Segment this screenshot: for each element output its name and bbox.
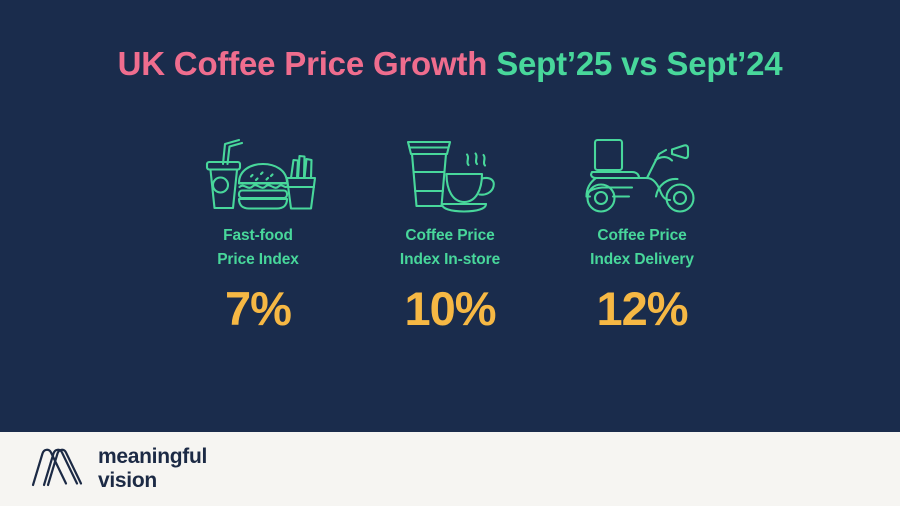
stat-label-fast-food: Fast-food Price Index <box>217 224 299 271</box>
title-text: UK Coffee Price Growth Sept’25 vs Sept’2… <box>0 44 900 84</box>
meaningful-vision-logo-mark <box>30 446 84 493</box>
stat-card-coffee-in-store: Coffee Price Index In-store 10% <box>354 132 546 332</box>
delivery-scooter-icon <box>580 132 704 214</box>
brand-logo-line2: vision <box>98 469 207 493</box>
stat-label-line1: Fast-food <box>223 227 293 244</box>
stat-label-line2: Index Delivery <box>590 251 694 268</box>
stat-label-line2: Index In-store <box>400 251 500 268</box>
stat-label-line2: Price Index <box>217 251 299 268</box>
coffee-cups-icon <box>396 132 504 214</box>
footer-bar: meaningful vision <box>0 432 900 506</box>
brand-logo-text: meaningful vision <box>98 445 207 492</box>
fast-food-combo-icon <box>199 132 317 214</box>
stat-label-coffee-in-store: Coffee Price Index In-store <box>400 224 500 271</box>
page-title: UK Coffee Price Growth Sept’25 vs Sept’2… <box>0 44 900 84</box>
brand-logo-line1: meaningful <box>98 445 207 469</box>
title-part-primary: UK Coffee Price Growth <box>118 45 497 82</box>
stats-row: Fast-food Price Index 7% <box>0 132 900 332</box>
stat-value-fast-food: 7% <box>225 285 291 332</box>
title-part-period: Sept’25 vs Sept’24 <box>496 45 782 82</box>
brand-logo: meaningful vision <box>30 445 207 492</box>
stat-value-coffee-in-store: 10% <box>404 285 495 332</box>
stat-value-coffee-delivery: 12% <box>596 285 687 332</box>
stat-label-line1: Coffee Price <box>405 227 494 244</box>
stat-card-fast-food: Fast-food Price Index 7% <box>162 132 354 332</box>
stat-card-coffee-delivery: Coffee Price Index Delivery 12% <box>546 132 738 332</box>
stat-label-line1: Coffee Price <box>597 227 686 244</box>
infographic-slide: UK Coffee Price Growth Sept’25 vs Sept’2… <box>0 0 900 506</box>
stat-label-coffee-delivery: Coffee Price Index Delivery <box>590 224 694 271</box>
